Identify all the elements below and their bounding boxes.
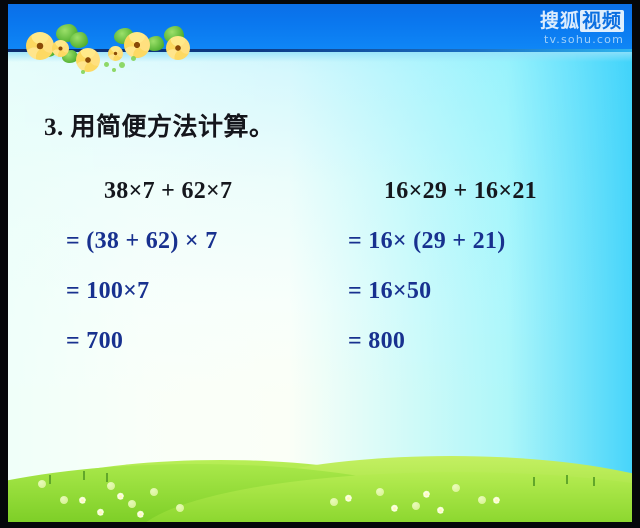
slide-canvas: 搜狐视频 tv.sohu.com 3. 用 (8, 4, 632, 522)
tree-icon (100, 454, 113, 476)
flower-bud (176, 504, 184, 512)
grass-hills-decoration (8, 432, 632, 522)
flower-bud (107, 482, 115, 490)
petal-dot (131, 56, 136, 61)
tree-icon (528, 462, 539, 480)
flower-icon (76, 48, 100, 72)
tree-icon (559, 452, 574, 478)
tree-icon (588, 460, 600, 480)
equation-line: = 100×7 (66, 266, 232, 316)
petal-dot (119, 62, 125, 68)
sohu-watermark: 搜狐视频 tv.sohu.com (540, 10, 624, 46)
petal-dot (81, 70, 85, 74)
equation-line: = 16×50 (348, 266, 537, 316)
flower-bud (60, 496, 68, 504)
flower-bud (128, 500, 136, 508)
tree-icon (76, 448, 91, 474)
flower-bud (412, 502, 420, 510)
flower-decoration-cluster (18, 18, 248, 80)
sohu-brand-text: 搜狐视频 (540, 10, 624, 32)
sohu-watermark-url: tv.sohu.com (540, 33, 624, 46)
flower-bud (376, 488, 384, 496)
sohu-brand-prefix: 搜狐 (540, 10, 580, 32)
petal-dot (104, 62, 109, 67)
equation-line: = 800 (348, 316, 537, 366)
flower-icon (26, 32, 54, 60)
flower-bud (150, 488, 158, 496)
problem-column-right: 16×29 + 16×21 = 16× (29 + 21) = 16×50 = … (348, 166, 537, 366)
page-title: 3. 用简便方法计算。 (44, 107, 275, 143)
equation-line: 38×7 + 62×7 (66, 166, 232, 216)
equation-line: = 16× (29 + 21) (348, 216, 537, 266)
equation-line: = 700 (66, 316, 232, 366)
tree-icon (44, 460, 55, 478)
equation-line: 16×29 + 16×21 (348, 166, 537, 216)
flower-icon (124, 32, 150, 58)
flower-icon (108, 46, 123, 61)
problem-column-left: 38×7 + 62×7 = (38 + 62) × 7 = 100×7 = 70… (66, 166, 232, 366)
video-slide-frame: 搜狐视频 tv.sohu.com 3. 用 (0, 0, 640, 528)
flower-bud (452, 484, 460, 492)
flower-icon (52, 40, 69, 57)
equation-line: = (38 + 62) × 7 (66, 216, 232, 266)
flower-icon (166, 36, 190, 60)
flower-bud (330, 498, 338, 506)
sohu-brand-boxed: 视频 (580, 10, 624, 32)
flower-bud (38, 480, 46, 488)
flower-bud (478, 496, 486, 504)
leaf-icon (70, 32, 88, 48)
petal-dot (112, 68, 116, 72)
